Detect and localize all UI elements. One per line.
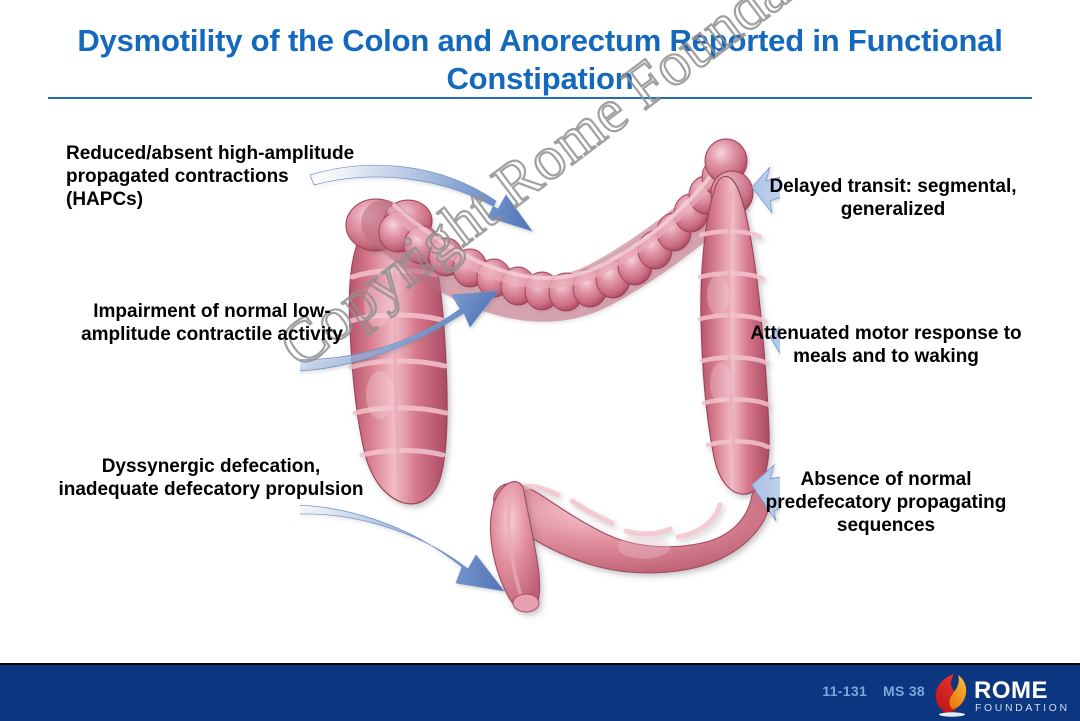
label-delayed-transit: Delayed transit: segmental, generalized — [768, 175, 1018, 221]
label-absence-predefecatory-sequences: Absence of normal predefecatory propagat… — [748, 468, 1024, 538]
rome-foundation-logo: ROME FOUNDATION — [930, 672, 1072, 718]
flame-icon — [936, 674, 967, 717]
label-attenuated-motor-response: Attenuated motor response to meals and t… — [742, 322, 1030, 368]
footer-code-left: 11-131 — [822, 683, 867, 699]
label-dyssynergic-defecation: Dyssynergic defecation, inadequate defec… — [56, 455, 366, 501]
slide-canvas: Dysmotility of the Colon and Anorectum R… — [0, 0, 1080, 721]
colon-anorectum-illustration — [300, 105, 780, 625]
title-divider — [48, 97, 1032, 99]
logo-secondary-text: FOUNDATION — [975, 702, 1070, 714]
label-reduced-absent-hapcs: Reduced/absent high-amplitude propagated… — [66, 142, 366, 212]
footer-code-right: MS 38 — [883, 683, 925, 699]
logo-primary-text: ROME — [974, 677, 1048, 704]
page-title: Dysmotility of the Colon and Anorectum R… — [48, 22, 1032, 98]
arrow-dyssynergic — [300, 505, 504, 591]
slide-footer: 11-131MS 38 — [0, 663, 1080, 721]
label-impairment-low-amplitude: Impairment of normal low-amplitude contr… — [62, 300, 362, 346]
footer-codes: 11-131MS 38 — [822, 683, 925, 699]
